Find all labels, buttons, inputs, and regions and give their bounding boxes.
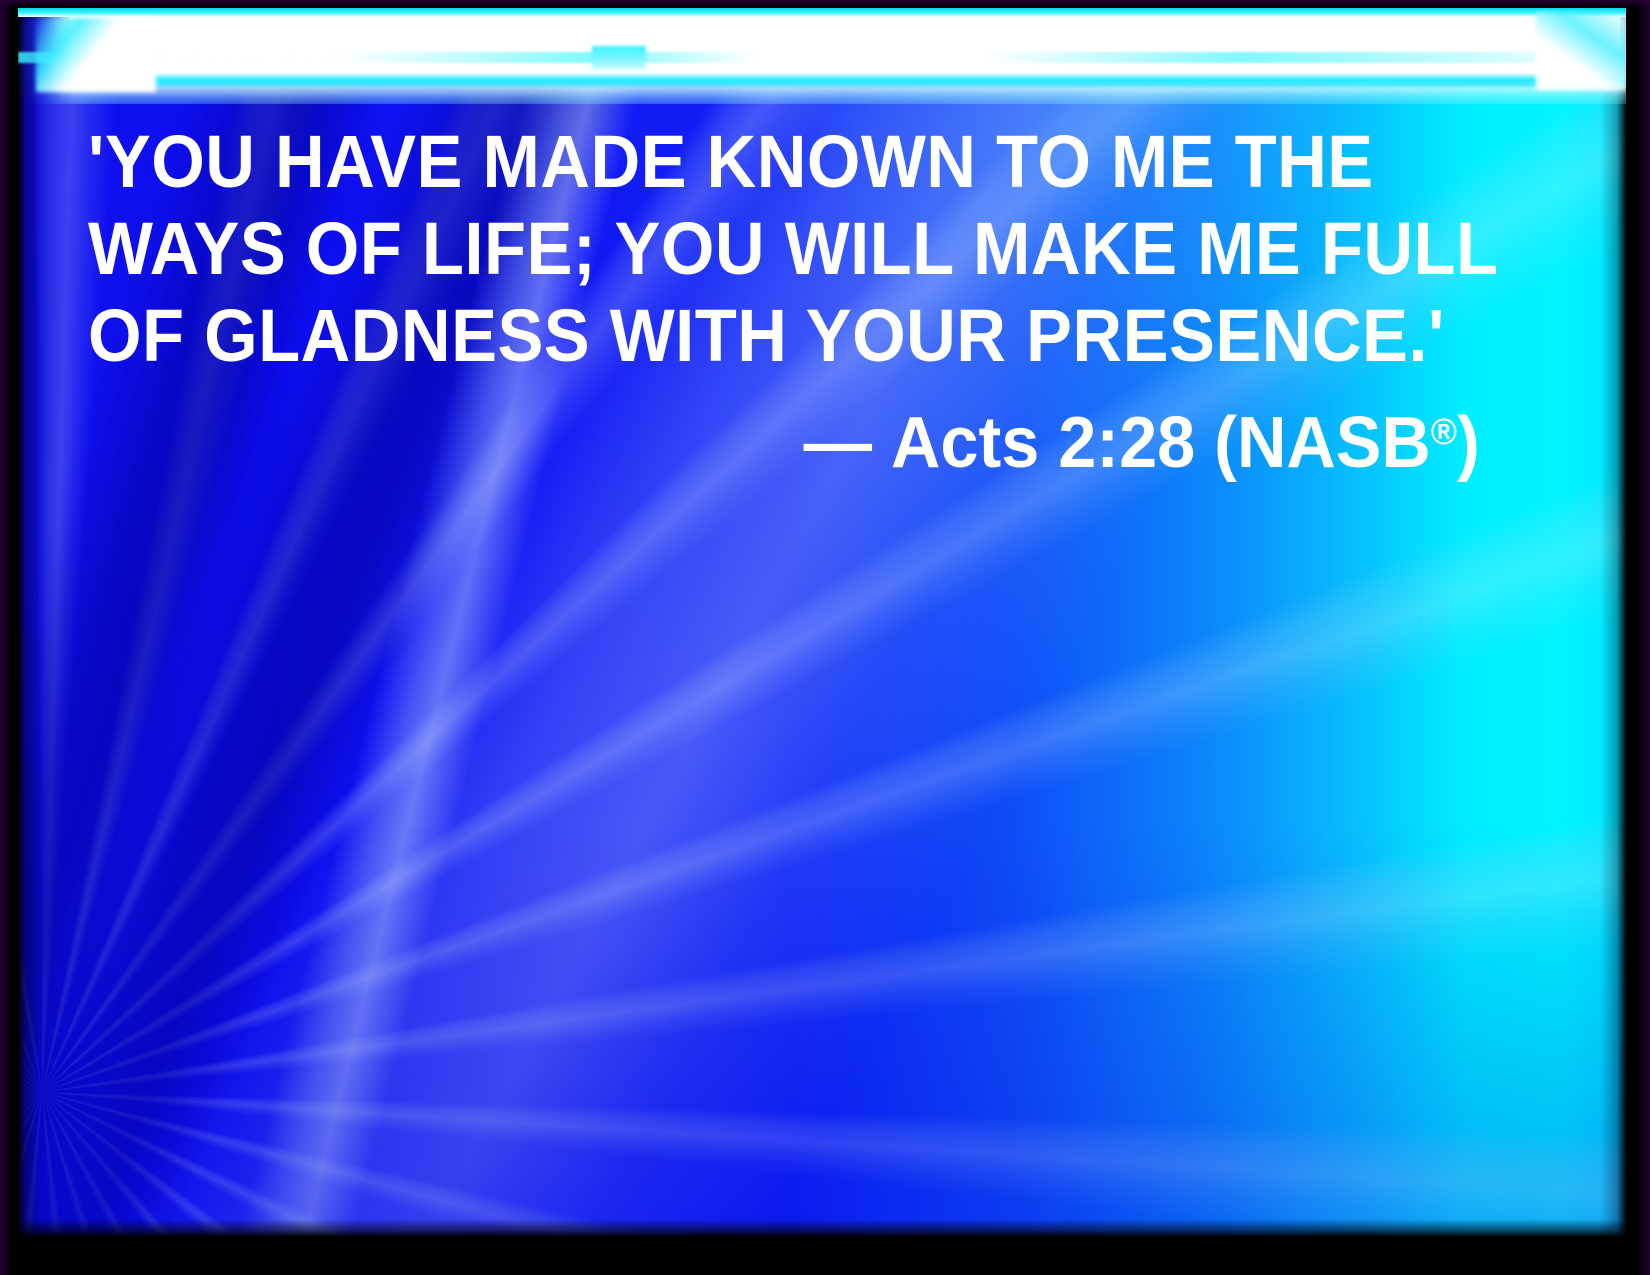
attribution-spacer bbox=[872, 403, 891, 483]
verse-line-2: WAYS OF LIFE; YOU WILL MAKE ME FULL bbox=[88, 205, 1390, 292]
registered-trademark-icon: ® bbox=[1431, 410, 1457, 452]
top-band-inner-streak bbox=[18, 52, 1626, 63]
attribution-dash: — bbox=[804, 403, 872, 483]
top-band-core bbox=[70, 14, 1620, 80]
attribution-reference: Acts 2:28 bbox=[891, 403, 1195, 483]
attribution-line: — Acts 2:28 (NASB®) bbox=[804, 391, 1480, 483]
top-band-cyan-notch bbox=[592, 46, 646, 72]
verse-line-3: OF GLADNESS WITH YOUR PRESENCE.' bbox=[88, 292, 1390, 379]
top-band-left-bevel bbox=[36, 18, 156, 92]
verse-attribution: — Acts 2:28 (NASB®) bbox=[88, 391, 1488, 483]
top-band-right-cap bbox=[1536, 12, 1626, 90]
top-band-cyan-edge-top bbox=[18, 8, 1626, 17]
attribution-spacer-2 bbox=[1195, 403, 1214, 483]
verse-line-1: 'YOU HAVE MADE KNOWN TO ME THE bbox=[88, 118, 1390, 205]
attribution-translation-open: (NASB bbox=[1214, 403, 1431, 483]
verse-slide: 'YOU HAVE MADE KNOWN TO ME THE WAYS OF L… bbox=[0, 0, 1650, 1275]
top-glow-band bbox=[18, 8, 1626, 104]
attribution-translation-close: ) bbox=[1457, 403, 1480, 483]
verse-text-block: 'YOU HAVE MADE KNOWN TO ME THE WAYS OF L… bbox=[88, 118, 1488, 483]
top-band-cyan-edge-bottom bbox=[64, 74, 1626, 88]
